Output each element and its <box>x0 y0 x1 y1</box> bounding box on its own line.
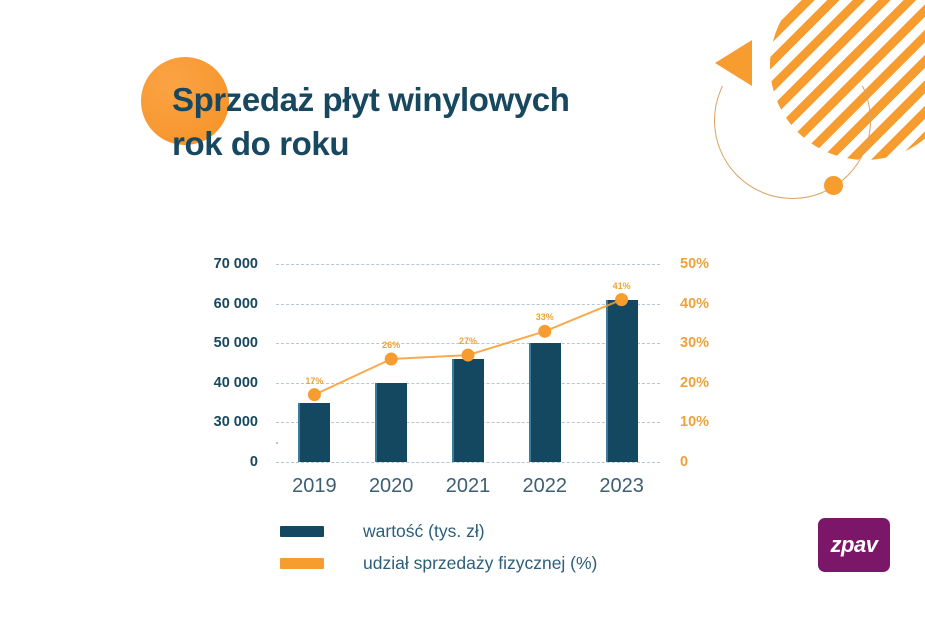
y-axis-right-tick: 50% <box>680 256 709 272</box>
chart-line-series <box>276 264 660 462</box>
y-axis-left-tick: 60 000 <box>214 296 258 312</box>
page-title: Sprzedaż płyt winylowych rok do roku <box>172 78 732 166</box>
x-axis-tick: 2019 <box>292 475 337 498</box>
legend-label-share: udział sprzedaży fizycznej (%) <box>363 553 597 574</box>
x-axis-tick: 2023 <box>599 475 644 498</box>
legend-item-value: wartość (tys. zł) <box>280 515 597 547</box>
chart-line-marker <box>385 353 398 366</box>
y-axis-right-tick: 20% <box>680 375 709 391</box>
x-axis-tick: 2020 <box>369 475 414 498</box>
chart-data-label: 41% <box>613 281 631 291</box>
chart-line-marker <box>615 293 628 306</box>
y-axis-left-tick: 40 000 <box>214 375 258 391</box>
chart-line-marker <box>538 325 551 338</box>
zpav-logo: zpav <box>818 518 890 572</box>
legend-label-value: wartość (tys. zł) <box>363 521 485 542</box>
y-axis-right-tick: 10% <box>680 414 709 430</box>
chart-data-label: 26% <box>382 340 400 350</box>
arc-dot-icon <box>824 176 843 195</box>
page-title-line2: rok do roku <box>172 122 732 166</box>
legend-item-share: udział sprzedaży fizycznej (%) <box>280 547 597 579</box>
slide: Sprzedaż płyt winylowych rok do roku 70 … <box>0 0 925 623</box>
chart-line-path <box>314 300 621 395</box>
y-axis-right-tick: 40% <box>680 296 709 312</box>
y-axis-left-tick: 0 <box>250 454 258 470</box>
chart-data-label: 17% <box>305 376 323 386</box>
y-axis-right-tick: 0 <box>680 454 688 470</box>
y-axis-right-tick: 30% <box>680 335 709 351</box>
chart-gridline <box>276 462 660 463</box>
y-axis-left-tick: 30 000 <box>214 414 258 430</box>
chart-legend: wartość (tys. zł) udział sprzedaży fizyc… <box>280 515 597 579</box>
chart-data-label: 27% <box>459 336 477 346</box>
chart: 70 00050%60 00040%50 00030%40 00020%30 0… <box>196 250 741 495</box>
zpav-logo-text: zpav <box>831 532 878 558</box>
chart-data-label: 33% <box>536 312 554 322</box>
y-axis-left-tick: 70 000 <box>214 256 258 272</box>
legend-swatch-share <box>280 558 324 569</box>
chart-line-marker <box>308 388 321 401</box>
x-axis-tick: 2022 <box>523 475 568 498</box>
page-title-line1: Sprzedaż płyt winylowych <box>172 81 570 118</box>
chart-plot-area: 70 00050%60 00040%50 00030%40 00020%30 0… <box>276 264 660 462</box>
legend-swatch-value <box>280 526 324 537</box>
y-axis-left-tick: 50 000 <box>214 335 258 351</box>
chart-line-marker <box>462 349 475 362</box>
x-axis-tick: 2021 <box>446 475 491 498</box>
